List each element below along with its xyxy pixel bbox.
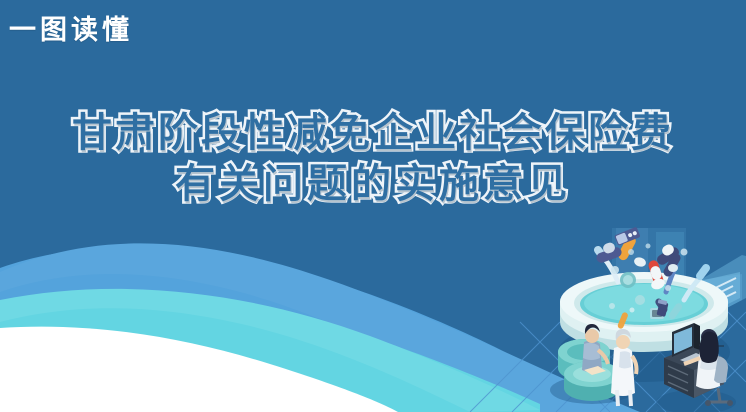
infographic-poster: 一图读懂 甘肃阶段性减免企业社会保险费 有关问题的实施意见 bbox=[0, 0, 746, 412]
page-title: 甘肃阶段性减免企业社会保险费 有关问题的实施意见 bbox=[0, 108, 746, 210]
title-line-2: 有关问题的实施意见 bbox=[0, 159, 746, 210]
sofa-group bbox=[550, 324, 637, 406]
title-line-1: 甘肃阶段性减免企业社会保险费 bbox=[0, 108, 746, 159]
kicker-label: 一图读懂 bbox=[9, 17, 133, 44]
